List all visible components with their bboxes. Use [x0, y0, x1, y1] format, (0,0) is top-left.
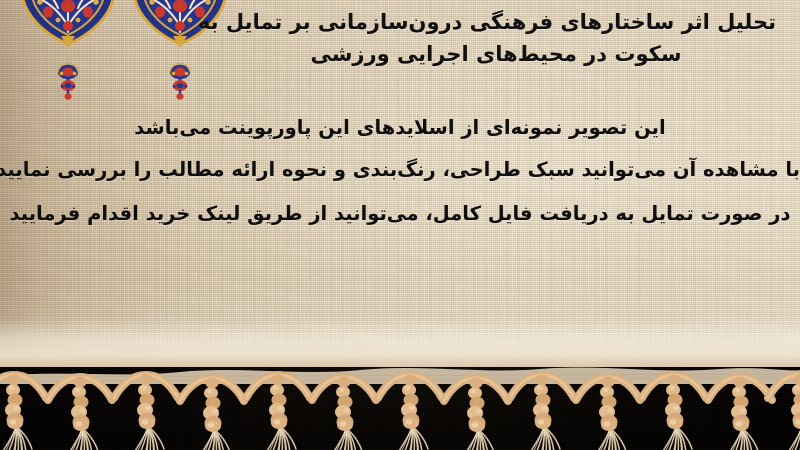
fringe-tassel: [0, 375, 46, 450]
fringe-tassel: [312, 377, 376, 450]
fringe-tassel: [114, 375, 178, 450]
slide-title-line-1: تحلیل اثر ساختارهای فرهنگی درون‌سازمانی …: [216, 6, 776, 38]
fringe-tassel: [768, 375, 800, 450]
slide-title: تحلیل اثر ساختارهای فرهنگی درون‌سازمانی …: [216, 6, 776, 70]
fringe-tassel: [642, 375, 706, 450]
fringe-tassel: [576, 377, 640, 450]
bottom-fringe-group: [0, 320, 800, 450]
fringe-tassels-svg: [0, 320, 800, 450]
slide-body-line-3: در صورت تمایل به دریافت فایل کامل، می‌تو…: [0, 192, 800, 236]
fringe-tassel: [180, 378, 244, 450]
fringe-tassel: [378, 375, 442, 450]
fringe-tassel: [444, 378, 508, 450]
slide-title-line-2: سکوت در محیط‌های اجرایی ورزشی: [216, 38, 776, 70]
slide-body: این تصویر نمونه‌ای از اسلایدهای این پاور…: [0, 108, 800, 236]
slide-body-line-1: این تصویر نمونه‌ای از اسلایدهای این پاور…: [0, 108, 800, 148]
fringe-tassel: [708, 377, 772, 450]
fringe-tassel: [48, 377, 112, 450]
slide-body-line-2: با مشاهده آن می‌توانید سبک طراحی، رنگ‌بن…: [0, 148, 800, 192]
fringe-tassel: [246, 375, 310, 450]
presentation-slide: تحلیل اثر ساختارهای فرهنگی درون‌سازمانی …: [0, 0, 800, 450]
fringe-tassel: [510, 375, 574, 450]
